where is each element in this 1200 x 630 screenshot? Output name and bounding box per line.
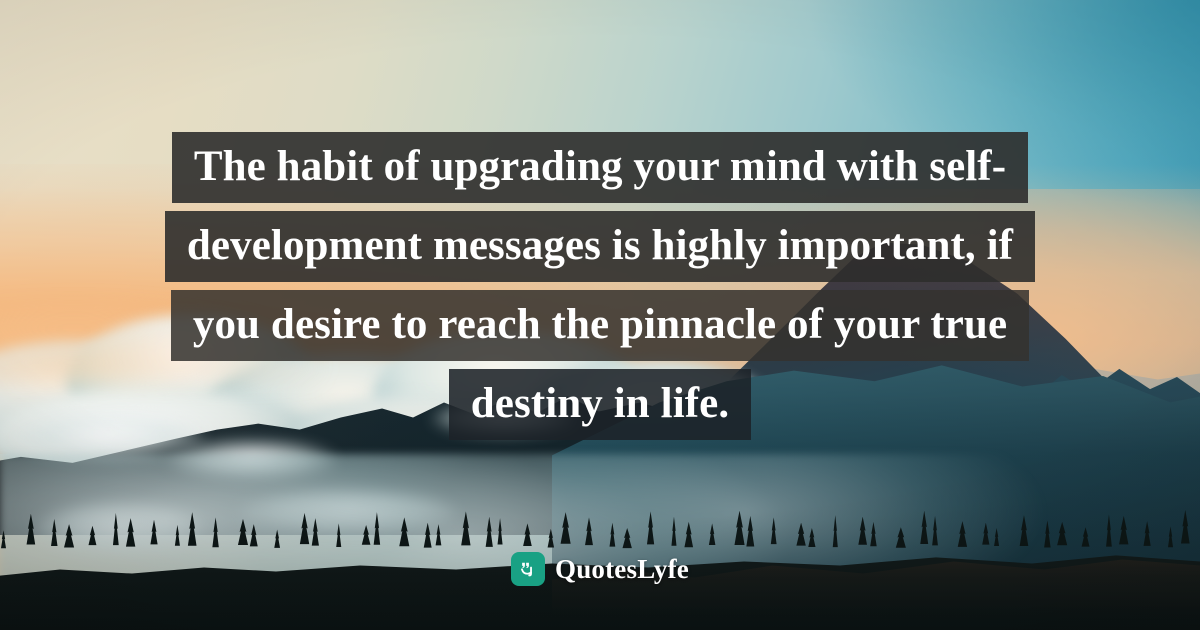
brand-name: QuotesLyfe <box>555 554 689 585</box>
brand-logo[interactable]: QuotesLyfe <box>0 552 1200 586</box>
quote-line: The habit of upgrading your mind with se… <box>172 132 1028 203</box>
quote-line: destiny in life. <box>449 369 751 440</box>
quote-card: The habit of upgrading your mind with se… <box>0 0 1200 630</box>
quote-block: The habit of upgrading your mind with se… <box>0 132 1200 440</box>
quote-line: development messages is highly important… <box>165 211 1035 282</box>
quote-smiley-icon <box>511 552 545 586</box>
quote-line: you desire to reach the pinnacle of your… <box>171 290 1029 361</box>
